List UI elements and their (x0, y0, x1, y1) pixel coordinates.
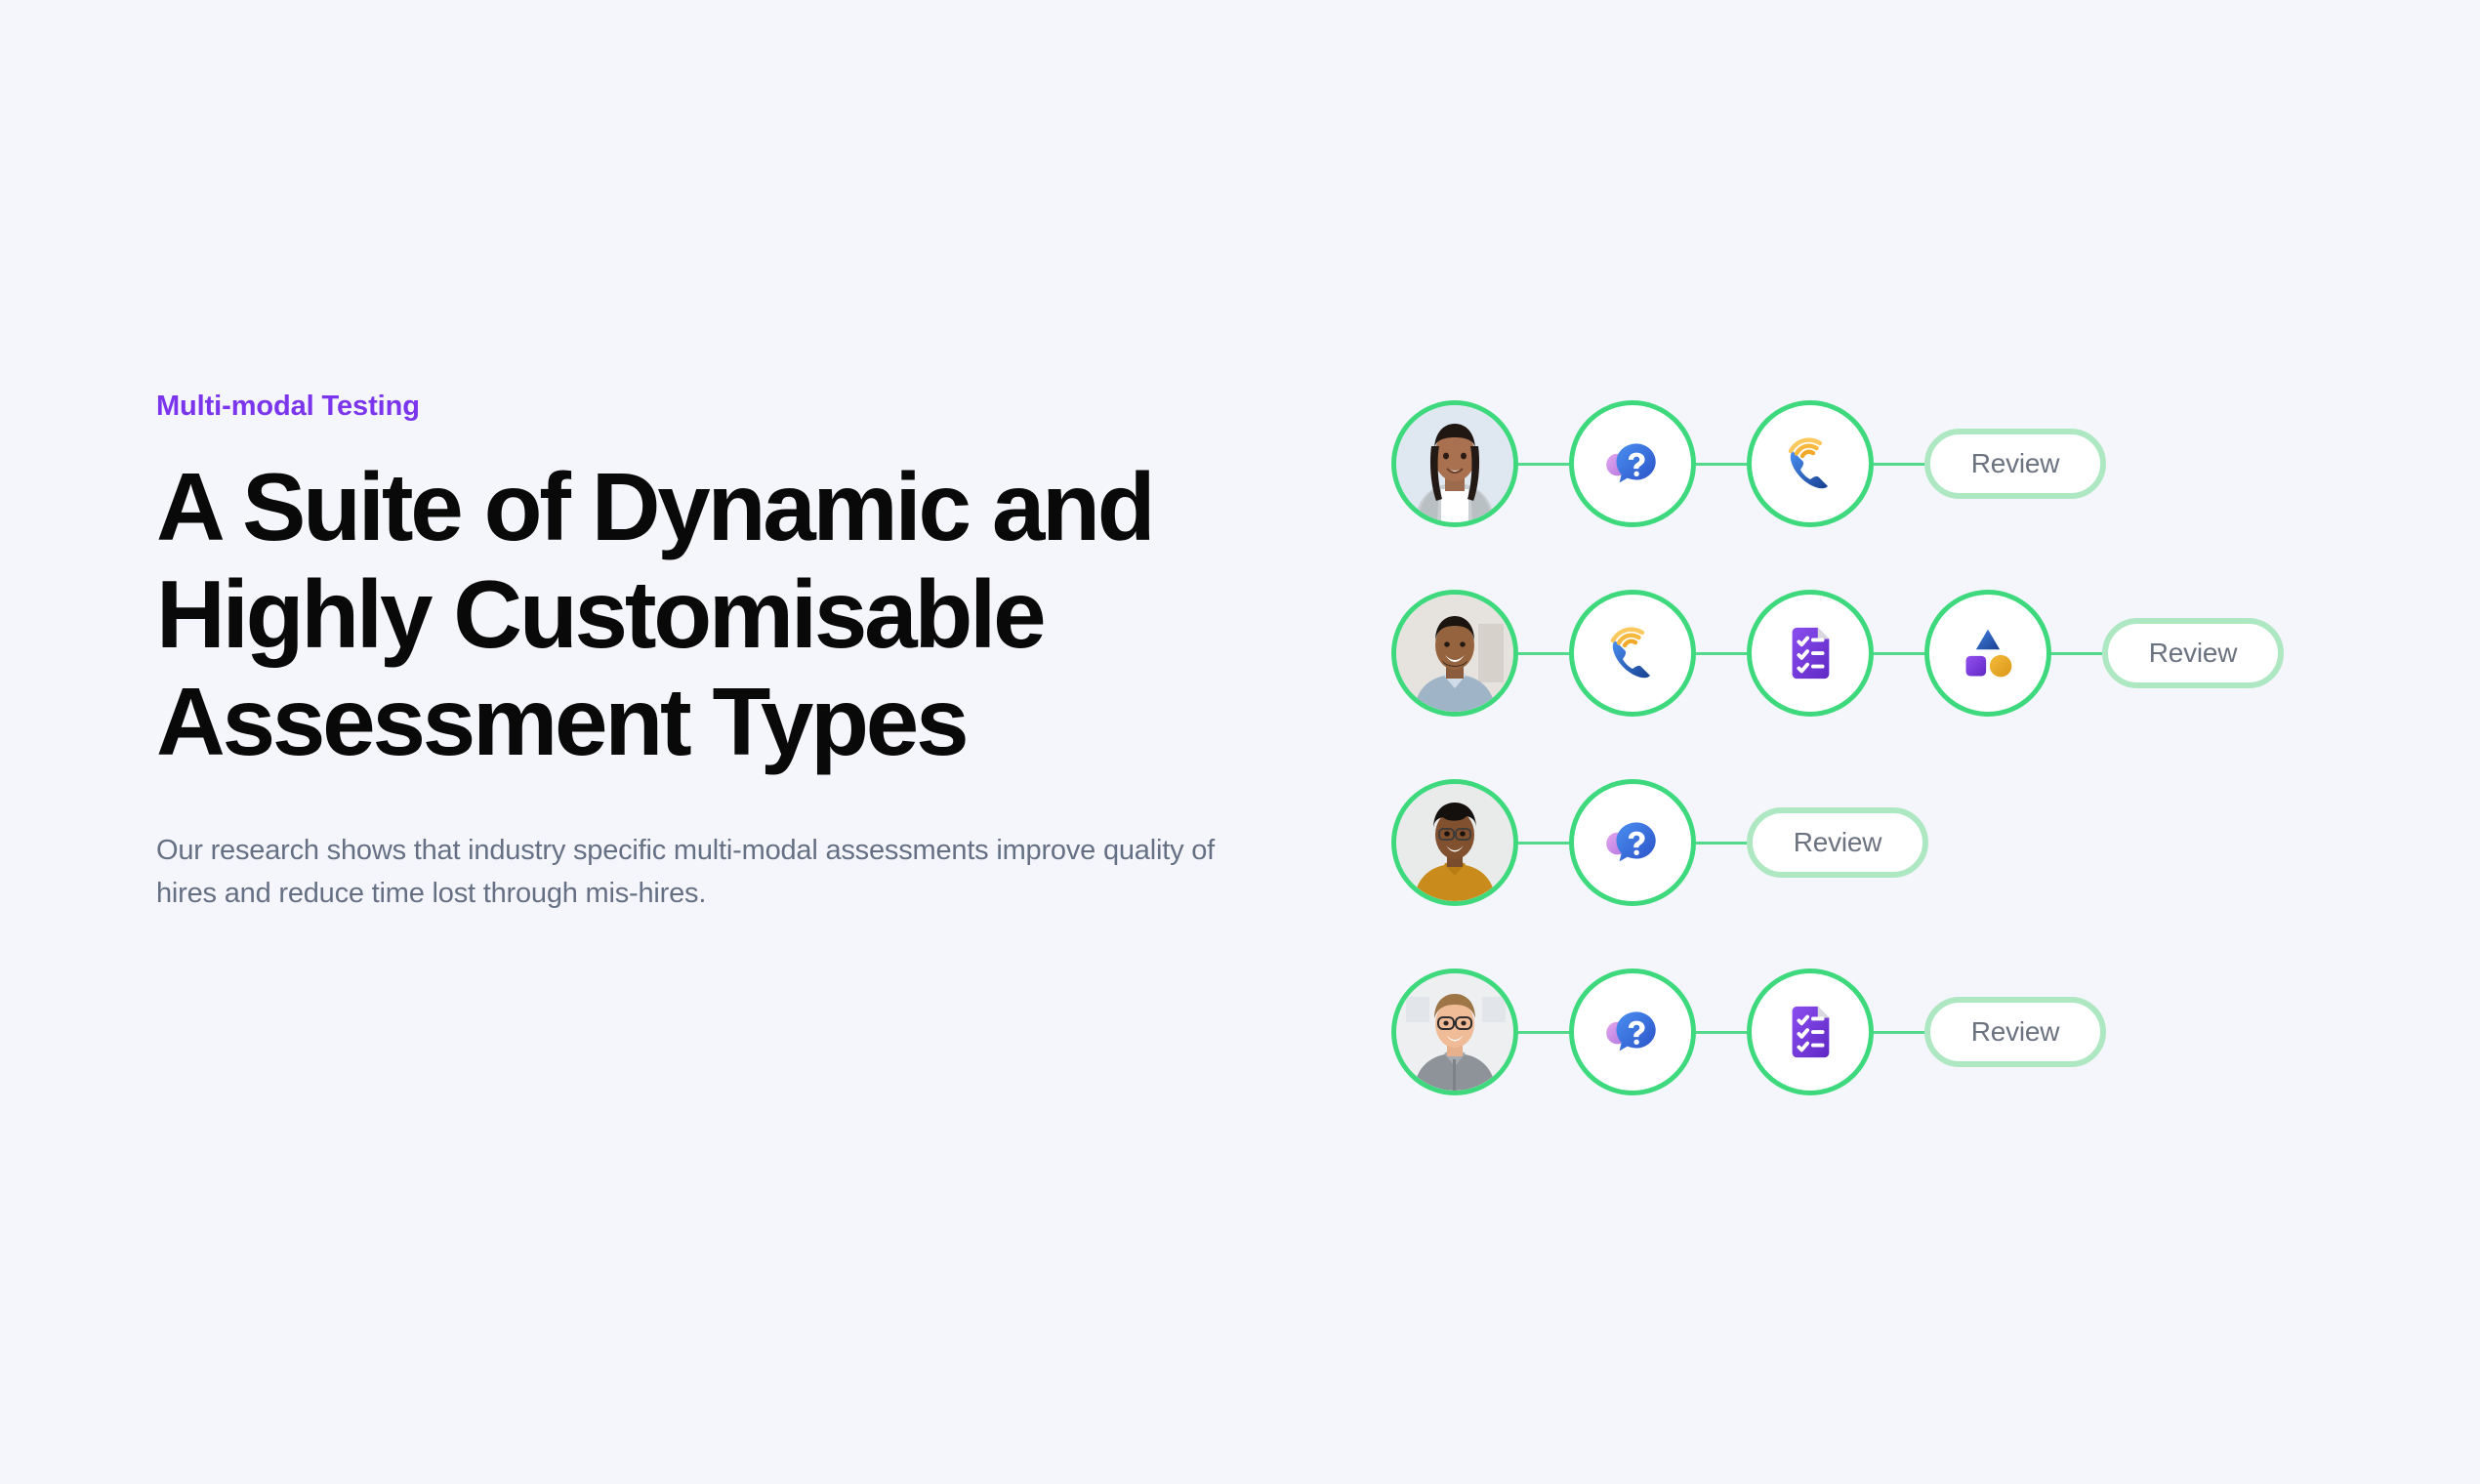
ringing-phone-icon (1779, 433, 1841, 495)
shapes-puzzle-icon (1959, 624, 2017, 682)
flow-connector (1518, 1031, 1569, 1034)
flow-connector (2051, 652, 2102, 655)
avatar[interactable] (1391, 969, 1518, 1095)
flow-connector (1874, 463, 1924, 466)
step-node[interactable] (1747, 969, 1874, 1095)
flow-connector (1874, 1031, 1924, 1034)
flow-connector (1696, 652, 1747, 655)
page-title: A Suite of Dynamic and Highly Customisab… (156, 454, 1240, 775)
question-bubble-icon (1600, 1000, 1665, 1064)
flow-connector (1696, 1031, 1747, 1034)
step-node[interactable] (1747, 590, 1874, 717)
flow-connector (1518, 842, 1569, 845)
review-pill[interactable]: Review (2102, 618, 2284, 688)
flow-row: Review (1391, 969, 2387, 1095)
avatar[interactable] (1391, 400, 1518, 527)
checklist-document-icon (1780, 623, 1840, 683)
flow-connector (1874, 652, 1924, 655)
question-bubble-icon (1600, 432, 1665, 496)
avatar[interactable] (1391, 590, 1518, 717)
flow-connector (1696, 842, 1747, 845)
review-pill[interactable]: Review (1747, 807, 1928, 878)
review-pill[interactable]: Review (1924, 997, 2106, 1067)
avatar-person-mustard-shirt-icon (1396, 784, 1513, 901)
section-eyebrow: Multi-modal Testing (156, 391, 1240, 423)
flow-row: Review (1391, 779, 2387, 906)
avatar-woman-blazer-icon (1396, 405, 1513, 522)
assessment-flow-diagram: Review (1391, 400, 2387, 1095)
step-node[interactable] (1569, 400, 1696, 527)
avatar-man-blue-shirt-icon (1396, 595, 1513, 712)
flow-row: Review (1391, 400, 2387, 527)
flow-connector (1696, 463, 1747, 466)
section-description: Our research shows that industry specifi… (156, 830, 1216, 915)
flow-connector (1518, 463, 1569, 466)
ringing-phone-icon (1601, 622, 1664, 684)
hero-text-column: Multi-modal Testing A Suite of Dynamic a… (156, 391, 1240, 915)
flow-connector (1518, 652, 1569, 655)
review-pill[interactable]: Review (1924, 429, 2106, 499)
step-node[interactable] (1569, 969, 1696, 1095)
avatar-man-glasses-grey-shirt-icon (1396, 973, 1513, 1091)
step-node[interactable] (1569, 779, 1696, 906)
step-node[interactable] (1747, 400, 1874, 527)
question-bubble-icon (1600, 810, 1665, 875)
flow-row: Review (1391, 590, 2387, 717)
checklist-document-icon (1780, 1002, 1840, 1062)
step-node[interactable] (1569, 590, 1696, 717)
step-node[interactable] (1924, 590, 2051, 717)
avatar[interactable] (1391, 779, 1518, 906)
page-root: Multi-modal Testing A Suite of Dynamic a… (0, 0, 2480, 1484)
